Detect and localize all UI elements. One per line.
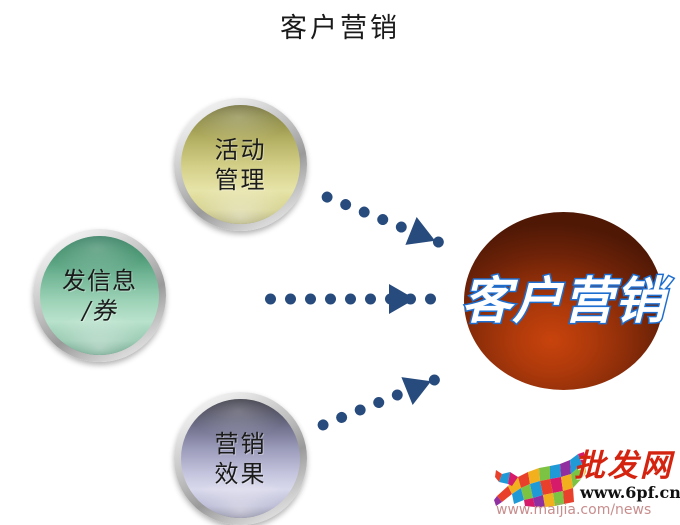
node-label-line2: 效果 xyxy=(215,459,267,489)
arrow-activity-to-result xyxy=(316,181,442,255)
node-label: 发信息 /券 xyxy=(33,229,166,362)
slide-canvas: 客户营销 活动 管理 发信息 /券 营销 效果 xyxy=(0,0,680,521)
arrow-send-to-result xyxy=(265,284,417,314)
node-marketing-effect[interactable]: 营销 效果 xyxy=(174,392,307,525)
node-send-message-coupon[interactable]: 发信息 /券 xyxy=(33,229,166,362)
result-label: 客户营销 xyxy=(452,272,675,330)
watermark-logo: 批发网 www.6pf.cn www.maijia.com/news xyxy=(494,448,680,521)
node-result-customer-marketing[interactable]: 批发网 客户营销 xyxy=(464,212,663,390)
node-label-line1: 发信息 xyxy=(62,266,137,296)
node-label-line1: 营销 xyxy=(215,429,267,459)
arrowhead-icon xyxy=(389,284,415,314)
watermark-brand-url: www.6pf.cn xyxy=(580,484,680,502)
arrowhead-icon xyxy=(405,217,440,255)
page-title: 客户营销 xyxy=(0,12,680,46)
node-label: 活动 管理 xyxy=(174,98,307,231)
node-label-line2: /券 xyxy=(82,296,116,326)
node-label-line1: 活动 xyxy=(215,135,267,165)
watermark-brand-cn: 批发网 xyxy=(574,449,673,483)
arrow-effect-to-result xyxy=(312,366,440,441)
arrowhead-icon xyxy=(401,367,436,405)
node-label-line2: 管理 xyxy=(215,165,267,195)
node-label: 营销 效果 xyxy=(174,392,307,525)
watermark-source-url: www.maijia.com/news xyxy=(496,502,651,518)
node-activity-management[interactable]: 活动 管理 xyxy=(174,98,307,231)
bull-logo-icon xyxy=(494,450,586,508)
